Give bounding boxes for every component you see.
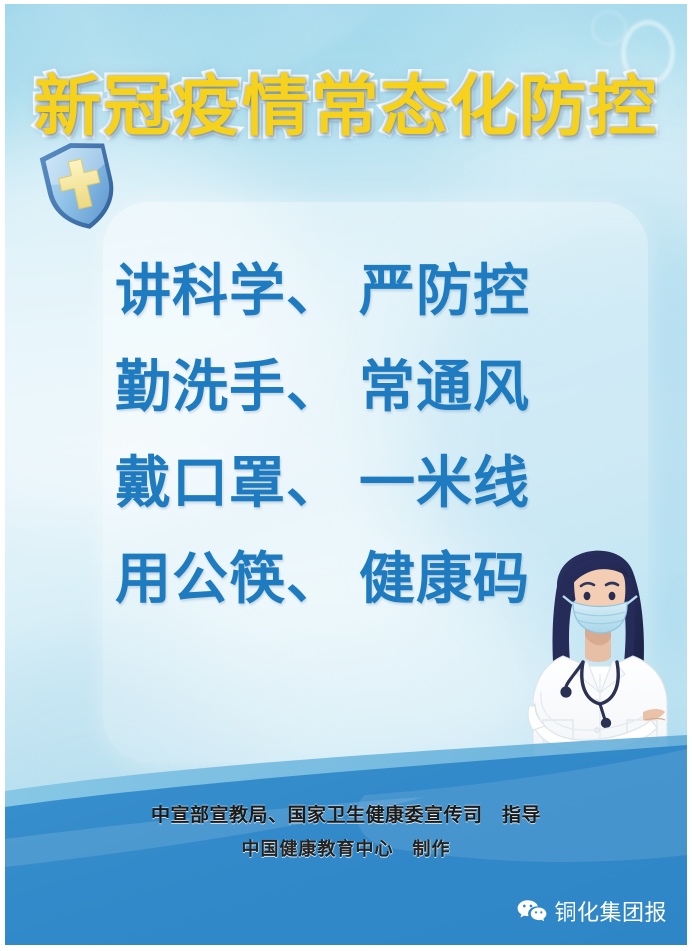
- slogan-line-left: 用公筷、: [115, 547, 343, 612]
- shield-cross-icon: [32, 132, 129, 239]
- footer-guidance-line: 中宣部宣教局、国家卫生健康委宣传司 指导: [5, 800, 687, 827]
- wechat-account-name: 铜化集团报: [554, 895, 667, 927]
- slogan-line-left: 勤洗手、: [115, 355, 343, 420]
- slogan-line-right: 一米线: [359, 451, 530, 516]
- circle-outline-decoration: [591, 10, 627, 46]
- poster-canvas: 新冠疫情常态化防控: [5, 4, 687, 945]
- poster-root: 新冠疫情常态化防控: [0, 0, 692, 951]
- wechat-watermark: 铜化集团报: [517, 895, 667, 927]
- slogan-line: 戴口罩、一米线: [115, 436, 635, 532]
- slogan-line: 讲科学、严防控: [115, 244, 635, 340]
- doctor-illustration: [505, 524, 687, 774]
- footer-credits: 中宣部宣教局、国家卫生健康委宣传司 指导 中国健康教育中心 制作: [5, 800, 687, 861]
- footer-producer-line: 中国健康教育中心 制作: [5, 835, 687, 861]
- slogan-line-left: 讲科学、: [115, 259, 343, 324]
- slogan-line-right: 严防控: [359, 259, 530, 324]
- slogan-line: 勤洗手、常通风: [115, 340, 635, 436]
- slogan-line-right: 常通风: [359, 355, 530, 420]
- wechat-logo-icon: [517, 899, 547, 924]
- page-title: 新冠疫情常态化防控: [34, 74, 658, 140]
- title-container: 新冠疫情常态化防控: [5, 74, 687, 140]
- slogan-line-left: 戴口罩、: [115, 451, 343, 516]
